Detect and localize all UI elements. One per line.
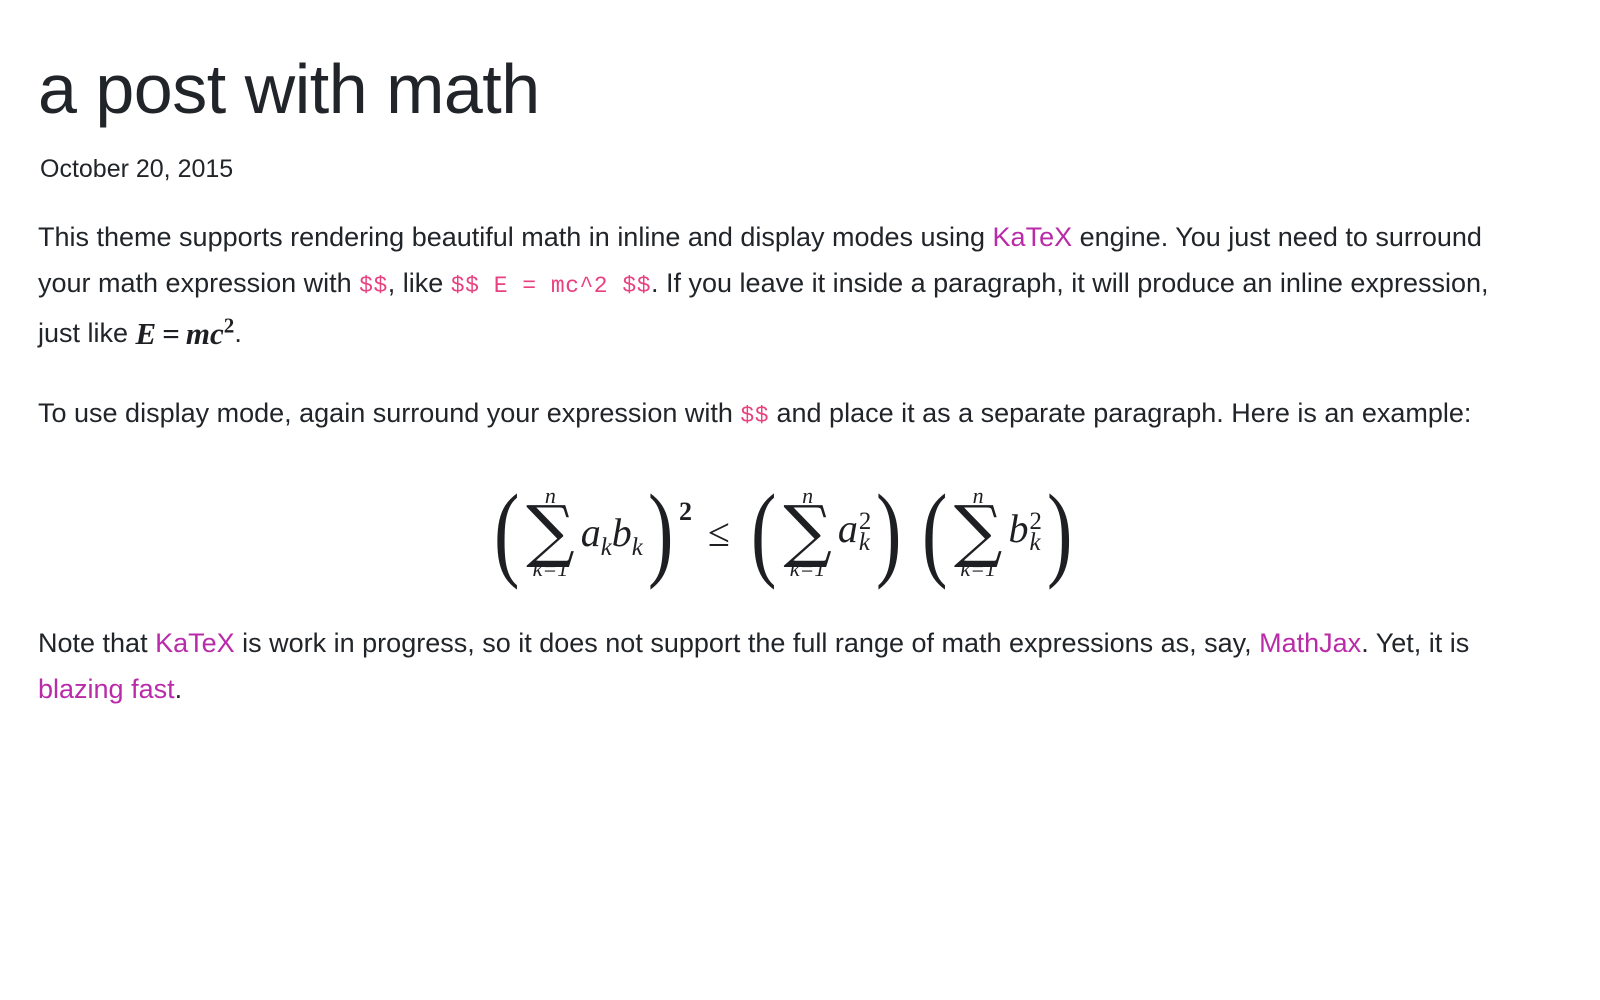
math-supsub: 2k xyxy=(859,510,871,556)
sigma-icon: ∑ xyxy=(783,508,832,557)
math-term-bk-squared: b2k xyxy=(1008,509,1041,556)
math-var-e: E xyxy=(136,316,157,351)
math-exponent-2: 2 xyxy=(224,314,235,338)
link-katex[interactable]: KaTeX xyxy=(155,628,235,658)
math-var-c: c xyxy=(210,316,224,351)
math-var-m: m xyxy=(186,316,210,351)
math-var-b: b xyxy=(1008,506,1028,551)
text-segment: To use display mode, again surround your… xyxy=(38,398,740,428)
math-term-ak-squared: a2k xyxy=(838,509,871,556)
sum-lower-limit: k=1 xyxy=(960,558,996,580)
paren-close-icon: ) xyxy=(1047,489,1072,576)
link-blazing-fast[interactable]: blazing fast xyxy=(38,674,175,704)
text-segment: . xyxy=(175,674,183,704)
code-dollar-delimiter: $$ xyxy=(359,273,388,299)
math-outer-power-2: 2 xyxy=(679,499,692,525)
post-page: a post with math October 20, 2015 This t… xyxy=(0,0,1600,1000)
text-segment: . xyxy=(234,318,242,348)
paragraph-display-mode: To use display mode, again surround your… xyxy=(38,390,1528,439)
math-term-akbk: akbk xyxy=(581,513,643,553)
paren-close-icon: ) xyxy=(876,489,901,576)
math-group-rhs-1: ( n ∑ k=1 a2k ) xyxy=(746,485,907,580)
math-supsub: 2k xyxy=(1029,510,1041,556)
paren-close-icon: ) xyxy=(648,489,673,576)
math-sub-k: k xyxy=(859,531,871,556)
summation-2: n ∑ k=1 xyxy=(783,485,832,580)
cauchy-schwarz-formula: ( n ∑ k=1 akbk ) 2 ≤ ( n ∑ xyxy=(489,485,1077,580)
text-segment: This theme supports rendering beautiful … xyxy=(38,222,993,252)
paren-open-icon: ( xyxy=(751,489,776,576)
text-segment: . Yet, it is xyxy=(1361,628,1469,658)
link-katex[interactable]: KaTeX xyxy=(993,222,1073,252)
inline-math-emc2: E=mc2 xyxy=(136,311,235,357)
math-group-rhs-2: ( n ∑ k=1 b2k ) xyxy=(917,485,1078,580)
summation-3: n ∑ k=1 xyxy=(954,485,1003,580)
post-date: October 20, 2015 xyxy=(40,154,1528,184)
math-sub-k: k xyxy=(601,534,612,561)
math-sub-k: k xyxy=(632,534,643,561)
code-dollar-delimiter: $$ xyxy=(740,403,769,429)
paren-open-icon: ( xyxy=(494,489,519,576)
math-relation-leq: ≤ xyxy=(708,513,730,553)
text-segment: , like xyxy=(388,268,451,298)
display-math-block: ( n ∑ k=1 akbk ) 2 ≤ ( n ∑ xyxy=(38,485,1528,580)
math-var-b: b xyxy=(612,510,632,555)
post-body: This theme supports rendering beautiful … xyxy=(38,214,1528,712)
math-var-a: a xyxy=(838,506,858,551)
math-sub-k: k xyxy=(1029,531,1041,556)
sum-lower-limit: k=1 xyxy=(533,558,569,580)
paren-open-icon: ( xyxy=(922,489,947,576)
math-equals: = xyxy=(156,316,186,351)
paragraph-note: Note that KaTeX is work in progress, so … xyxy=(38,620,1528,712)
page-title: a post with math xyxy=(38,52,1528,126)
text-segment: and place it as a separate paragraph. He… xyxy=(769,398,1471,428)
math-var-a: a xyxy=(581,510,601,555)
text-segment: Note that xyxy=(38,628,155,658)
text-segment: is work in progress, so it does not supp… xyxy=(235,628,1260,658)
sigma-icon: ∑ xyxy=(526,508,575,557)
code-math-example: $$ E = mc^2 $$ xyxy=(451,273,651,299)
summation-1: n ∑ k=1 xyxy=(526,485,575,580)
paragraph-intro: This theme supports rendering beautiful … xyxy=(38,214,1528,356)
sum-lower-limit: k=1 xyxy=(790,558,826,580)
math-group-lhs: ( n ∑ k=1 akbk ) 2 xyxy=(489,485,692,580)
sigma-icon: ∑ xyxy=(954,508,1003,557)
link-mathjax[interactable]: MathJax xyxy=(1259,628,1361,658)
